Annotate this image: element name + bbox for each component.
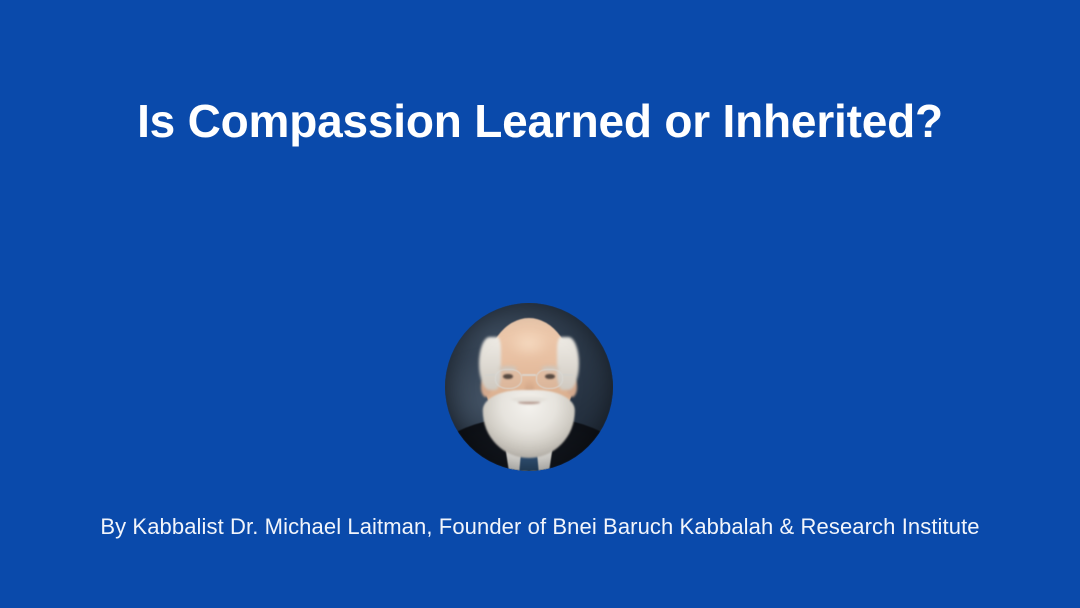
slide-caption: By Kabbalist Dr. Michael Laitman, Founde… bbox=[0, 512, 1080, 542]
eyeglass-temple-right bbox=[563, 373, 573, 376]
eyeglass-lens-left bbox=[495, 369, 522, 389]
slide-canvas: Is Compassion Learned or Inherited? bbox=[0, 0, 1080, 608]
moustache bbox=[511, 394, 548, 402]
speaker-portrait bbox=[445, 303, 613, 471]
eyeglass-bridge bbox=[522, 374, 535, 376]
slide-title: Is Compassion Learned or Inherited? bbox=[0, 92, 1080, 150]
portrait-photo bbox=[445, 303, 613, 471]
eyeglass-lens-right bbox=[536, 369, 563, 389]
eyeglass-temple-left bbox=[485, 373, 495, 376]
